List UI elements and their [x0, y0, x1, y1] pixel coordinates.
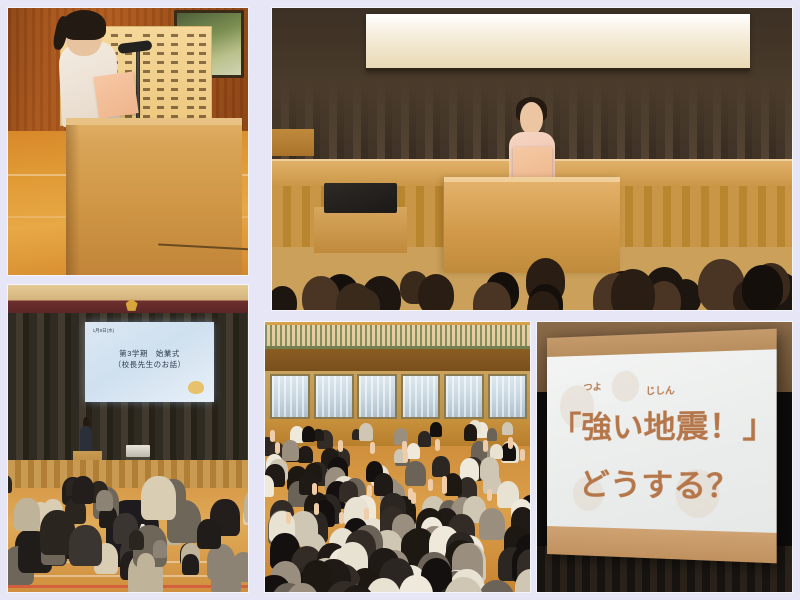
seated-student: [418, 431, 431, 446]
photo-panel-bottom-left[interactable]: 1月8日(水) 第3学期 始業式 （校長先生のお話） MA: [8, 285, 248, 592]
raised-hand: [483, 440, 488, 452]
raised-hand: [367, 485, 372, 497]
projected-slide: 1月8日(水) 第3学期 始業式 （校長先生のお話）: [85, 322, 215, 402]
photo-panel-top-left[interactable]: [8, 8, 248, 275]
raised-hand: [314, 503, 319, 515]
raised-hand: [339, 512, 344, 524]
raised-hand: [487, 489, 492, 501]
raised-hand: [338, 440, 343, 452]
seated-student: [487, 428, 497, 440]
audience-head: [302, 276, 340, 310]
projector: [324, 183, 397, 213]
seated-student: [298, 446, 312, 463]
projection-screen: つよ じしん 「強い地震！」 どうする？: [547, 329, 777, 564]
panel-top-right-scene: [272, 8, 792, 310]
furigana-jishin: じしん: [646, 383, 675, 397]
slide-headline-line-2: どうする？: [551, 459, 772, 508]
seated-student: [265, 475, 274, 497]
seated-student: [137, 553, 155, 576]
seated-student: [359, 423, 373, 440]
window: [488, 374, 528, 419]
audience-head: [418, 274, 454, 310]
seated-student: [72, 476, 94, 504]
wall-band: [265, 349, 530, 371]
mascot-icon: [188, 381, 204, 394]
photo-panel-bottom-centre[interactable]: [265, 322, 530, 592]
student-head: [520, 102, 544, 135]
raised-hand: [312, 483, 317, 495]
panel-bottom-left-scene: 1月8日(水) 第3学期 始業式 （校長先生のお話） MA: [8, 285, 248, 592]
raised-hand: [442, 482, 447, 494]
raised-hand: [364, 508, 369, 520]
window: [270, 374, 310, 419]
seated-student: [96, 490, 113, 511]
side-table: [272, 129, 314, 156]
speaker-hair: [62, 10, 106, 40]
projector: [126, 445, 150, 457]
window-row: [265, 371, 530, 420]
balcony-railing: [265, 325, 530, 350]
seated-student: [405, 461, 426, 486]
raised-hand: [370, 442, 375, 454]
photo-panel-bottom-right[interactable]: つよ じしん 「強い地震！」 どうする？: [537, 322, 792, 592]
seated-student: [141, 476, 176, 520]
seated-student: [129, 530, 145, 550]
window: [401, 374, 441, 419]
raised-hand: [270, 430, 275, 442]
reading-paper: [93, 71, 138, 118]
seated-student: [153, 540, 167, 558]
seated-student: [430, 422, 442, 437]
raised-hand: [286, 512, 291, 524]
raised-hand: [275, 442, 280, 454]
audience-head: [272, 286, 297, 310]
seated-student: [464, 424, 478, 440]
slide-title-line-2: （校長先生のお話）: [94, 359, 205, 370]
audience-head: [742, 265, 782, 310]
background-blob: [612, 370, 639, 401]
panel-top-left-scene: [8, 8, 248, 275]
slide-date-tag: 1月8日(水): [93, 328, 115, 334]
raised-hand: [408, 488, 413, 500]
seated-student: [407, 443, 421, 459]
window: [314, 374, 354, 419]
photo-panel-top-right[interactable]: [272, 8, 792, 310]
seated-student: [207, 544, 235, 579]
window: [444, 374, 484, 419]
raised-hand: [428, 479, 433, 491]
raised-hand: [508, 437, 513, 449]
photo-collage: 1月8日(水) 第3学期 始業式 （校長先生のお話） MA: [0, 0, 800, 600]
window: [357, 374, 397, 419]
raised-hand: [403, 451, 408, 463]
audience-head: [611, 269, 655, 310]
seated-student: [197, 519, 220, 548]
panel-bottom-right-scene: つよ じしん 「強い地震！」 どうする？: [537, 322, 792, 592]
slide-title-line-1: 第3学期 始業式: [94, 348, 205, 359]
raised-hand: [520, 449, 525, 461]
lectern: [66, 118, 242, 275]
seated-student: [502, 422, 513, 436]
projection-screen: [366, 14, 751, 71]
furigana-tsuyo: つよ: [584, 380, 602, 394]
seated-student: [14, 498, 40, 530]
seated-student: [69, 525, 102, 566]
audience-crowd: [272, 231, 792, 310]
slide-title: 第3学期 始業式 （校長先生のお話）: [94, 348, 205, 371]
panel-bottom-centre-scene: [265, 322, 530, 592]
seated-student: [282, 440, 299, 461]
seated-student: [479, 508, 506, 540]
slide-headline-line-1: 「強い地震！」: [551, 399, 772, 447]
seated-student: [182, 554, 199, 575]
speech-paper: [513, 147, 551, 180]
raised-hand: [435, 439, 440, 451]
stage-front-panel: [8, 460, 248, 488]
seated-student: [302, 426, 316, 442]
